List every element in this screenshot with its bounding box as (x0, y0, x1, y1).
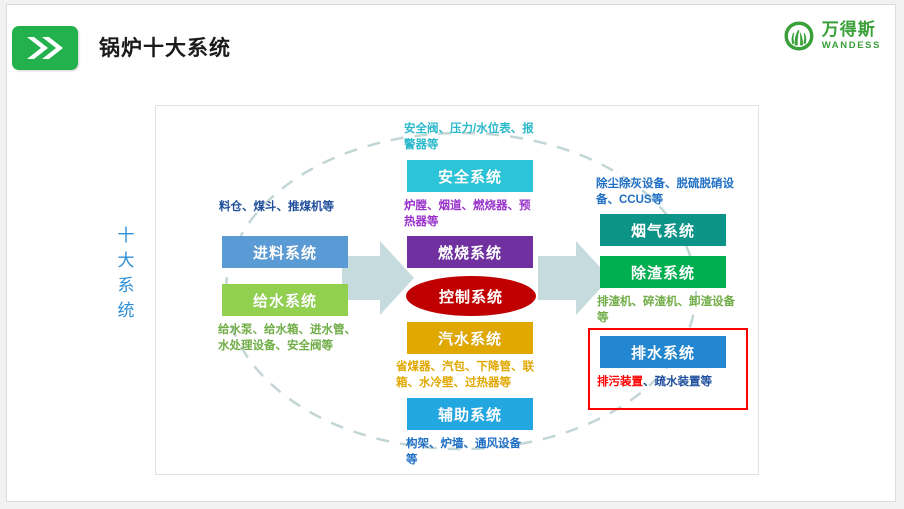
side-label-char-4: 统 (111, 298, 141, 323)
note-steam-water-system: 省煤器、汽包、下降管、联箱、水冷壁、过热器等 (396, 359, 551, 391)
note-auxiliary-system: 构架、炉墙、通风设备等 (406, 436, 531, 468)
box-safety-system[interactable]: 安全系统 (407, 160, 533, 192)
wandess-plant-logo-icon (782, 19, 816, 53)
diagram-side-label: 十 大 系 统 (111, 223, 141, 323)
note-drainage-highlight: 排污装置 (597, 376, 643, 388)
brand-logo: 万得斯 WANDESS (782, 16, 881, 56)
box-feedwater-system[interactable]: 给水系统 (222, 284, 348, 316)
logo-text-cn: 万得斯 (822, 21, 881, 38)
box-control-system[interactable]: 控制系统 (406, 276, 536, 316)
logo-text-en: WANDESS (822, 41, 881, 51)
note-slag-removal-system: 排渣机、碎渣机、卸渣设备等 (597, 294, 737, 326)
box-steam-water-system[interactable]: 汽水系统 (407, 322, 533, 354)
arrow-input-to-core (342, 241, 414, 315)
slide-canvas: 锅炉十大系统 万得斯 WANDESS 十 大 系 统 (6, 4, 896, 502)
note-feed-system: 料仓、煤斗、推煤机等 (219, 199, 349, 215)
note-feedwater-system: 给水泵、给水箱、进水管、水处理设备、安全阀等 (218, 322, 358, 354)
side-label-char-1: 十 (111, 223, 141, 248)
diagram-frame: 料仓、煤斗、推煤机等 进料系统 给水系统 给水泵、给水箱、进水管、水处理设备、安… (155, 105, 759, 475)
side-label-char-3: 系 (111, 273, 141, 298)
note-flue-gas-system: 除尘除灰设备、脱硫脱硝设备、CCUS等 (596, 176, 744, 208)
note-drainage-rest: 、疏水装置等 (643, 376, 712, 388)
slide-header: 锅炉十大系统 万得斯 WANDESS (7, 5, 895, 83)
box-combustion-system[interactable]: 燃烧系统 (407, 236, 533, 268)
double-chevron-right-icon (12, 26, 78, 70)
note-combustion-system: 炉膛、烟道、燃烧器、预热器等 (404, 198, 539, 230)
box-flue-gas-system[interactable]: 烟气系统 (600, 214, 726, 246)
box-auxiliary-system[interactable]: 辅助系统 (407, 398, 533, 430)
note-safety-system: 安全阀、压力/水位表、报警器等 (404, 121, 539, 153)
side-label-char-2: 大 (111, 248, 141, 273)
box-drainage-system[interactable]: 排水系统 (600, 336, 726, 368)
note-drainage-system: 排污装置、疏水装置等 (597, 374, 737, 390)
page-title: 锅炉十大系统 (99, 32, 231, 62)
box-slag-removal-system[interactable]: 除渣系统 (600, 256, 726, 288)
box-feed-system[interactable]: 进料系统 (222, 236, 348, 268)
